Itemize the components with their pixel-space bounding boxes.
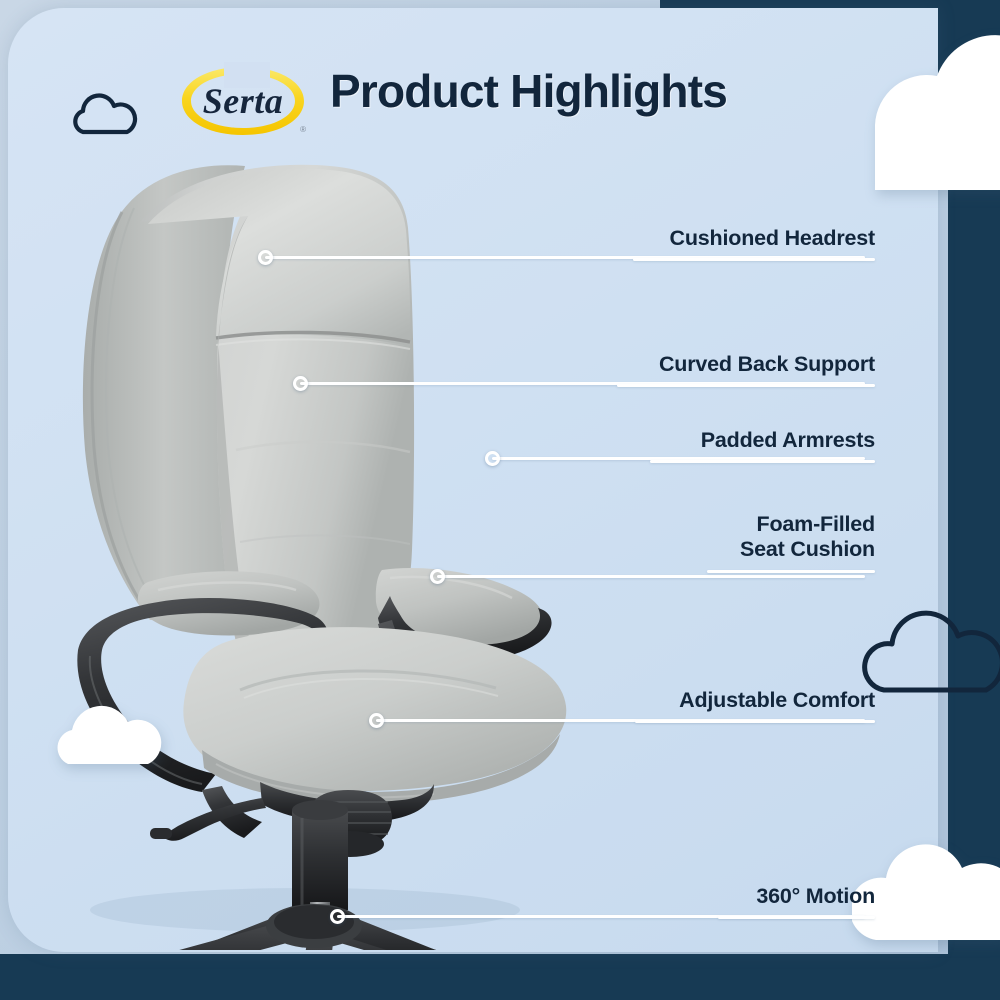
feature-label-padded-armrests: Padded Armrests: [650, 428, 875, 463]
serta-logo: Serta ®: [178, 62, 308, 140]
feature-text-360-motion: 360° Motion: [718, 884, 875, 909]
feature-underline-padded-armrests: [650, 460, 875, 463]
page-title: Product Highlights: [330, 64, 727, 118]
feature-label-cushioned-headrest: Cushioned Headrest: [633, 226, 875, 261]
hotspot-marker-foam-filled-seat-cushion[interactable]: [430, 569, 445, 584]
hotspot-marker-360-motion[interactable]: [330, 909, 345, 924]
feature-text-cushioned-headrest: Cushioned Headrest: [633, 226, 875, 251]
serta-wordmark: Serta: [178, 62, 308, 140]
feature-text-curved-back-support: Curved Back Support: [617, 352, 875, 377]
infographic-canvas: Serta ® Product Highlights: [0, 0, 1000, 1000]
connector-line-foam-filled-seat-cushion: [437, 575, 865, 578]
hotspot-marker-curved-back-support[interactable]: [293, 376, 308, 391]
cloud-bottom-left-solid: [52, 698, 172, 776]
feature-text-foam-filled-seat-cushion-line2: Seat Cushion: [707, 537, 875, 562]
feature-label-360-motion: 360° Motion: [718, 884, 875, 919]
hotspot-marker-cushioned-headrest[interactable]: [258, 250, 273, 265]
hotspot-marker-adjustable-comfort[interactable]: [369, 713, 384, 728]
cloud-mid-right-outline: [862, 608, 1000, 704]
feature-underline-foam-filled-seat-cushion: [707, 570, 875, 573]
feature-text-adjustable-comfort: Adjustable Comfort: [635, 688, 875, 713]
frame-bottom-edge: [0, 954, 1000, 1000]
office-chair-illustration: [30, 150, 590, 950]
feature-text-padded-armrests: Padded Armrests: [650, 428, 875, 453]
feature-underline-360-motion: [718, 916, 875, 919]
feature-underline-curved-back-support: [617, 384, 875, 387]
cloud-outline-icon: [70, 92, 140, 138]
feature-label-foam-filled-seat-cushion: Foam-FilledSeat Cushion: [707, 512, 875, 573]
feature-label-curved-back-support: Curved Back Support: [617, 352, 875, 387]
feature-underline-adjustable-comfort: [635, 720, 875, 723]
hotspot-marker-padded-armrests[interactable]: [485, 451, 500, 466]
feature-text-foam-filled-seat-cushion-line1: Foam-Filled: [707, 512, 875, 537]
feature-label-adjustable-comfort: Adjustable Comfort: [635, 688, 875, 723]
feature-underline-cushioned-headrest: [633, 258, 875, 261]
registered-mark: ®: [300, 125, 306, 134]
